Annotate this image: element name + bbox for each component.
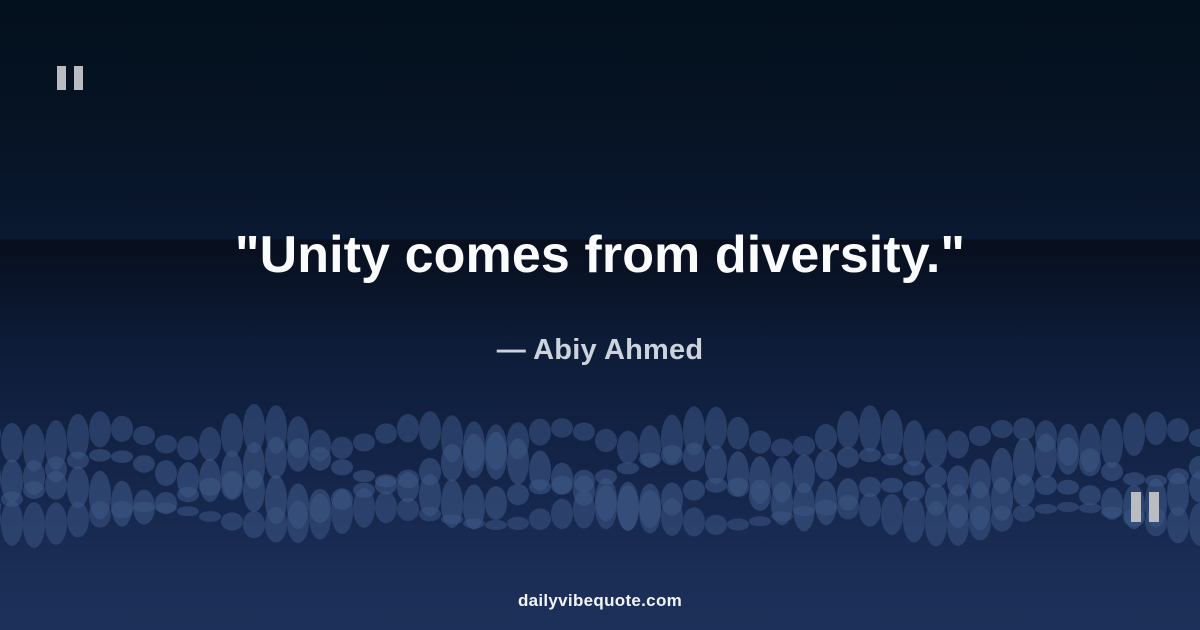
quote-author: — Abiy Ahmed xyxy=(150,330,1050,370)
site-watermark: dailyvibequote.com xyxy=(250,589,950,613)
quote-text: "Unity comes from diversity." xyxy=(70,222,1130,288)
quote-content: "Unity comes from diversity." — Abiy Ahm… xyxy=(0,0,1200,630)
quote-card: "Unity comes from diversity." — Abiy Ahm… xyxy=(0,0,1200,630)
